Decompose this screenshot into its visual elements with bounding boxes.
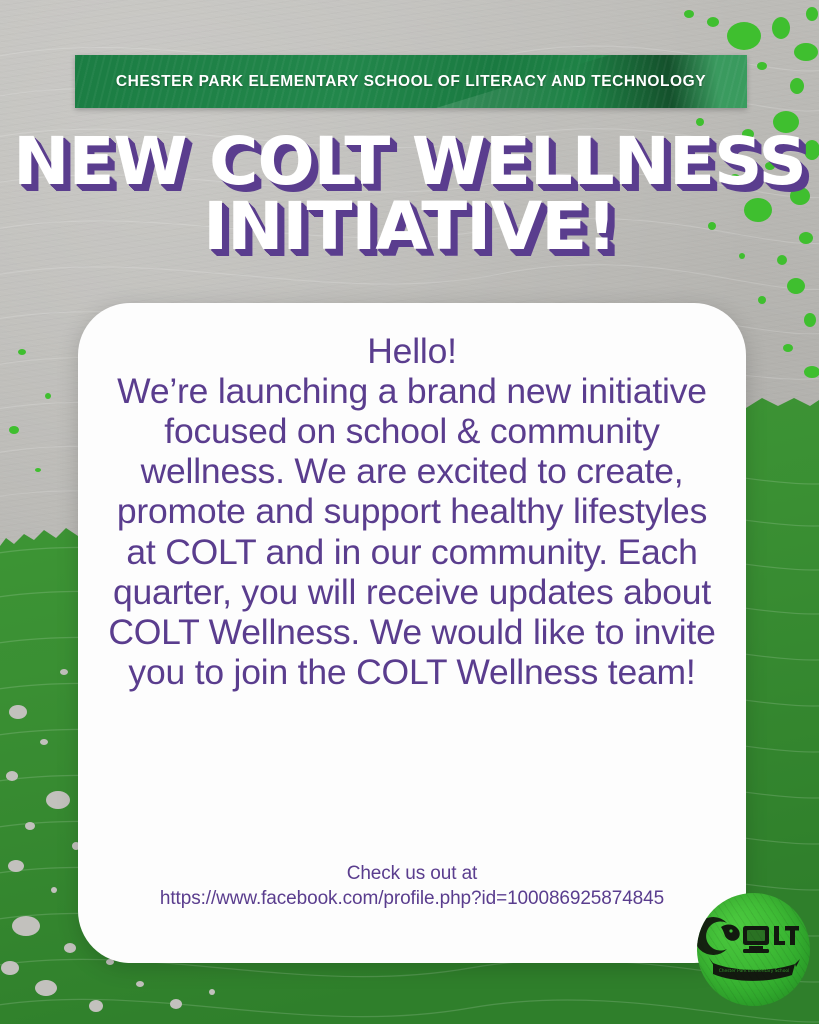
page-title: NEW COLT WELLNESS INITIATIVE! bbox=[0, 130, 819, 259]
card-message: Hello! We’re launching a brand new initi… bbox=[104, 331, 720, 692]
greeting-text: Hello! bbox=[104, 331, 720, 371]
poster: CHESTER PARK ELEMENTARY SCHOOL OF LITERA… bbox=[0, 0, 819, 1024]
content-card: Hello! We’re launching a brand new initi… bbox=[78, 303, 746, 963]
school-name-text: CHESTER PARK ELEMENTARY SCHOOL OF LITERA… bbox=[90, 72, 732, 92]
message-paragraph: We’re launching a brand new initiative f… bbox=[104, 371, 720, 692]
svg-text:Chester Park Elementary School: Chester Park Elementary School bbox=[719, 968, 790, 974]
school-banner: CHESTER PARK ELEMENTARY SCHOOL OF LITERA… bbox=[75, 55, 747, 108]
facebook-url-link[interactable]: https://www.facebook.com/profile.php?id=… bbox=[160, 886, 664, 911]
call-to-action-text: Check us out at bbox=[160, 861, 664, 886]
colt-logo: Chester Park Elementary School bbox=[697, 893, 810, 1006]
card-footer: Check us out at https://www.facebook.com… bbox=[160, 861, 664, 911]
